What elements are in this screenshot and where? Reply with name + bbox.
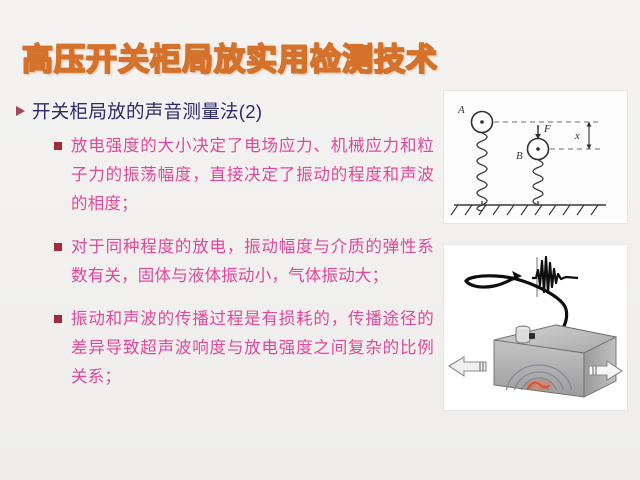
label-force: F: [543, 123, 551, 135]
label-displacement-x: x: [574, 131, 580, 142]
spring-mass-svg: A B F: [444, 91, 627, 223]
page-title: 高压开关柜局放实用检测技术: [22, 38, 422, 82]
list-item-label: 对于同种程度的放电，振动幅度与介质的弹性系数有关，固体与液体振动小，气体振动大；: [71, 233, 434, 291]
list-item: 振动和声波的传播过程是有损耗的，传播途径的差异导致超声波响度与放电强度之间复杂的…: [54, 305, 434, 392]
ultrasonic-testing-svg: [444, 245, 627, 410]
list-item: 对于同种程度的放电，振动幅度与介质的弹性系数有关，固体与液体振动小，气体振动大；: [54, 233, 434, 291]
title-block: 高压开关柜局放实用检测技术: [22, 38, 422, 84]
bullet-list: 放电强度的大小决定了电场应力、机械应力和粒子力的振荡幅度，直接决定了振动的程度和…: [54, 132, 434, 406]
mass-b-center-dot: [536, 147, 540, 151]
label-mass-b: B: [516, 150, 523, 162]
square-bullet-icon: [54, 243, 62, 251]
mass-a-center-dot: [480, 120, 484, 124]
list-item: 放电强度的大小决定了电场应力、机械应力和粒子力的振荡幅度，直接决定了振动的程度和…: [54, 132, 434, 219]
arrow-bullet-icon: [16, 106, 25, 116]
square-bullet-icon: [54, 142, 62, 150]
slide-canvas: 高压开关柜局放实用检测技术 开关柜局放的声音测量法(2) 放电强度的大小决定了电…: [0, 0, 640, 480]
crack-defect: [525, 379, 553, 391]
subtitle-text: 开关柜局放的声音测量法(2): [32, 98, 262, 124]
ultrasonic-testing-figure: [443, 244, 628, 411]
subtitle-row: 开关柜局放的声音测量法(2): [16, 98, 262, 124]
list-item-label: 放电强度的大小决定了电场应力、机械应力和粒子力的振荡幅度，直接决定了振动的程度和…: [71, 132, 434, 219]
list-item-label: 振动和声波的传播过程是有损耗的，传播途径的差异导致超声波响度与放电强度之间复杂的…: [71, 305, 434, 392]
square-bullet-icon: [54, 315, 62, 323]
spring-mass-figure: A B F: [443, 90, 628, 224]
label-mass-a: A: [457, 104, 465, 116]
